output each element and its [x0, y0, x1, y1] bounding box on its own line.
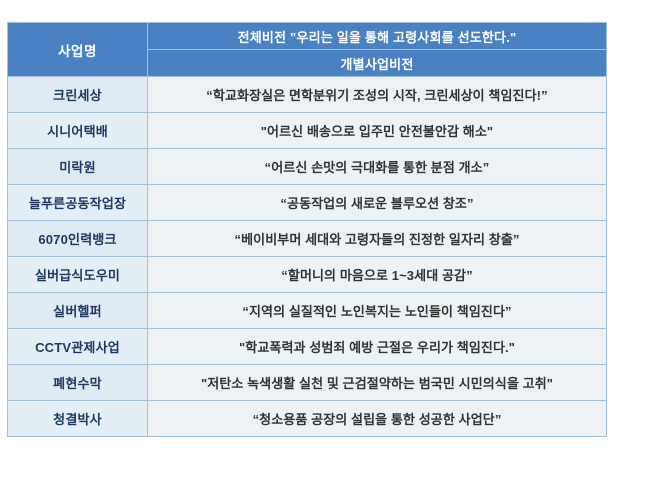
- table-header: 사업명 전체비전 "우리는 일을 통해 고령사회를 선도한다." 개별사업비전: [8, 23, 607, 77]
- business-name-cell: 청결박사: [8, 401, 148, 437]
- business-vision-cell: “할머니의 마음으로 1~3세대 공감”: [148, 257, 607, 293]
- table-body: 크린세상“학교화장실은 면학분위기 조성의 시작, 크린세상이 책임진다!”시니…: [8, 77, 607, 437]
- business-vision-cell: "어르신 배송으로 입주민 안전불안감 해소": [148, 113, 607, 149]
- table-row: 시니어택배"어르신 배송으로 입주민 안전불안감 해소": [8, 113, 607, 149]
- table-row: 늘푸른공동작업장“공동작업의 새로운 블루오션 창조”: [8, 185, 607, 221]
- vision-table-container: 사업명 전체비전 "우리는 일을 통해 고령사회를 선도한다." 개별사업비전 …: [7, 22, 607, 437]
- business-name-cell: 크린세상: [8, 77, 148, 113]
- table-row: 실버헬퍼“지역의 실질적인 노인복지는 노인들이 책임진다”: [8, 293, 607, 329]
- table-row: 폐현수막"저탄소 녹색생활 실천 및 근검절약하는 범국민 시민의식을 고취": [8, 365, 607, 401]
- business-name-cell: 실버헬퍼: [8, 293, 148, 329]
- business-vision-table: 사업명 전체비전 "우리는 일을 통해 고령사회를 선도한다." 개별사업비전 …: [7, 22, 607, 437]
- business-name-cell: 실버급식도우미: [8, 257, 148, 293]
- business-name-cell: 미락원: [8, 149, 148, 185]
- business-name-cell: 늘푸른공동작업장: [8, 185, 148, 221]
- table-row: 미락원“어르신 손맛의 극대화를 통한 분점 개소”: [8, 149, 607, 185]
- business-vision-cell: “어르신 손맛의 극대화를 통한 분점 개소”: [148, 149, 607, 185]
- table-row: CCTV관제사업"학교폭력과 성범죄 예방 근절은 우리가 책임진다.": [8, 329, 607, 365]
- business-vision-cell: “청소용품 공장의 설립을 통한 성공한 사업단”: [148, 401, 607, 437]
- business-name-cell: 폐현수막: [8, 365, 148, 401]
- business-vision-cell: “공동작업의 새로운 블루오션 창조”: [148, 185, 607, 221]
- column-header-overall-vision: 전체비전 "우리는 일을 통해 고령사회를 선도한다.": [148, 23, 607, 50]
- business-name-cell: 6070인력뱅크: [8, 221, 148, 257]
- business-vision-cell: “학교화장실은 면학분위기 조성의 시작, 크린세상이 책임진다!”: [148, 77, 607, 113]
- column-header-individual-vision: 개별사업비전: [148, 50, 607, 77]
- header-row-top: 사업명 전체비전 "우리는 일을 통해 고령사회를 선도한다.": [8, 23, 607, 50]
- business-vision-cell: “지역의 실질적인 노인복지는 노인들이 책임진다”: [148, 293, 607, 329]
- business-vision-cell: “베이비부머 세대와 고령자들의 진정한 일자리 창출”: [148, 221, 607, 257]
- business-vision-cell: "학교폭력과 성범죄 예방 근절은 우리가 책임진다.": [148, 329, 607, 365]
- table-row: 실버급식도우미“할머니의 마음으로 1~3세대 공감”: [8, 257, 607, 293]
- table-row: 청결박사“청소용품 공장의 설립을 통한 성공한 사업단”: [8, 401, 607, 437]
- business-name-cell: 시니어택배: [8, 113, 148, 149]
- column-header-business-name: 사업명: [8, 23, 148, 77]
- business-vision-cell: "저탄소 녹색생활 실천 및 근검절약하는 범국민 시민의식을 고취": [148, 365, 607, 401]
- business-name-cell: CCTV관제사업: [8, 329, 148, 365]
- table-row: 6070인력뱅크“베이비부머 세대와 고령자들의 진정한 일자리 창출”: [8, 221, 607, 257]
- table-row: 크린세상“학교화장실은 면학분위기 조성의 시작, 크린세상이 책임진다!”: [8, 77, 607, 113]
